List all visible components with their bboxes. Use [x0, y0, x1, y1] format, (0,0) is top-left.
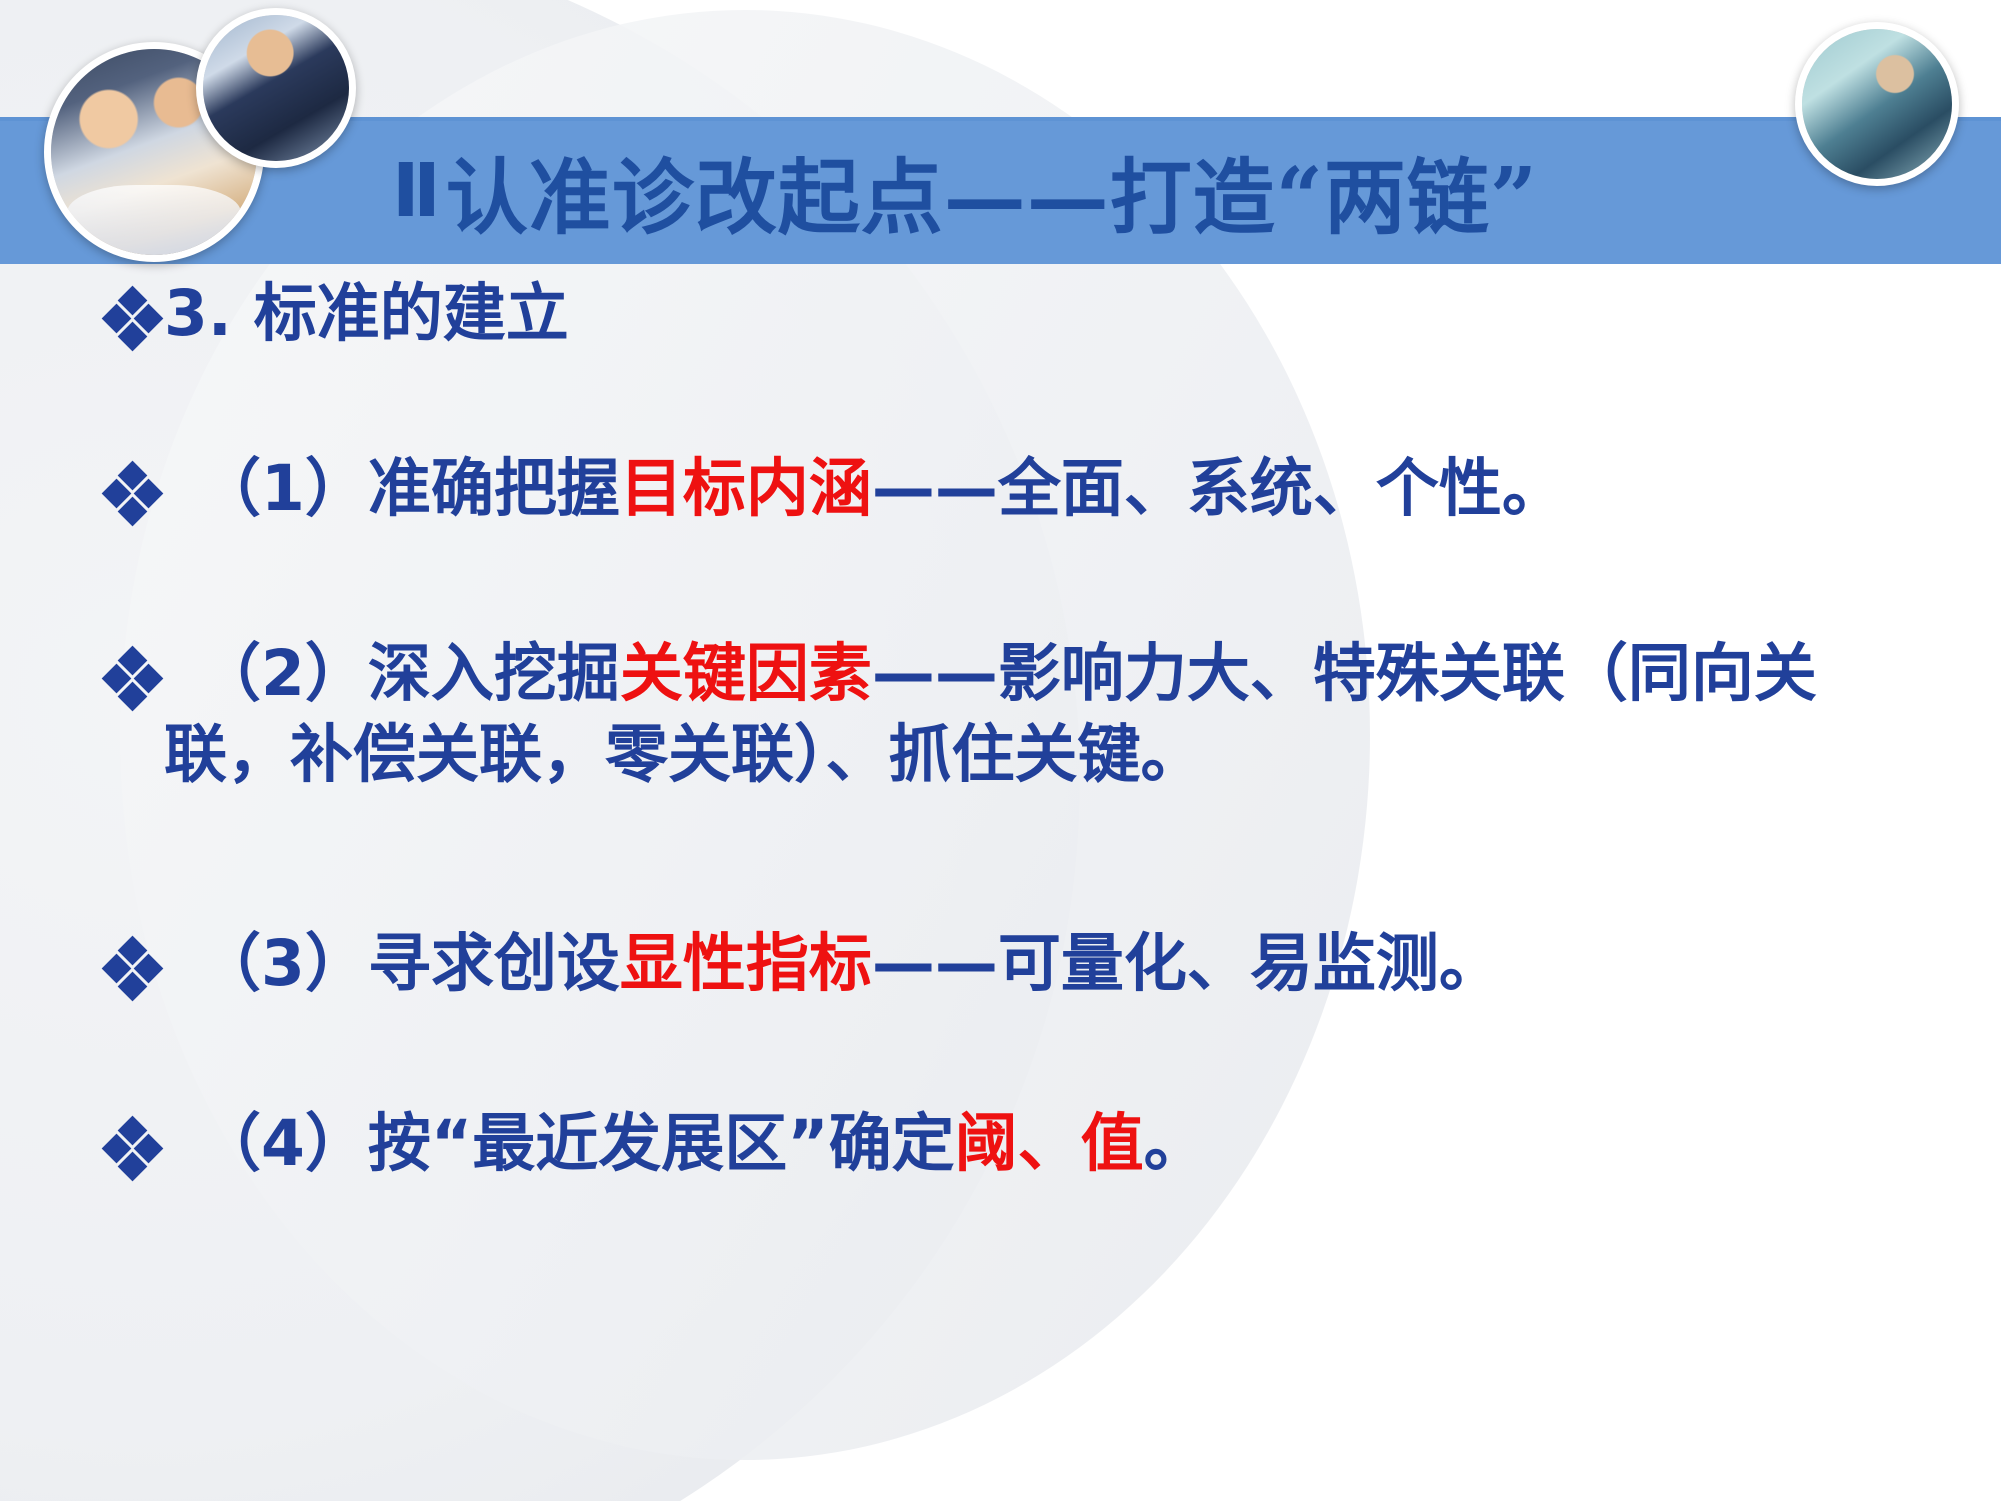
- diamond-bullet-icon: [104, 1118, 164, 1178]
- slide-title-text: 认准诊改起点——打造“两链”: [446, 131, 1538, 250]
- bullet-item-4: （4）按“最近发展区”确定阈、值。: [104, 1104, 1207, 1185]
- photo-circle-handshake-top-image: [203, 15, 349, 161]
- bullet-item-3-text: （3）寻求创设显性指标——可量化、易监测。: [164, 924, 1502, 1005]
- bullet-item-2: （2）深入挖掘关键因素——影响力大、特殊关联（同向关联，补偿关联，零关联）、抓住…: [104, 634, 1904, 795]
- photo-circle-handshake-top: [196, 8, 356, 168]
- diamond-bullet-icon: [104, 648, 164, 708]
- diamond-bullet-icon: [104, 463, 164, 523]
- bullet-item-4-text: （4）按“最近发展区”确定阈、值。: [164, 1104, 1207, 1185]
- segment-2: ——全面、系统、个性。: [872, 452, 1565, 525]
- segment-0: （4）按“最近发展区”确定: [198, 1107, 955, 1180]
- photo-circle-presenter-right-image: [1802, 29, 1952, 179]
- bullet-item-1: （1）准确把握目标内涵——全面、系统、个性。: [104, 449, 1565, 530]
- slide-title-numeral: Ⅱ: [392, 148, 442, 234]
- bullet-heading-text: 3. 标准的建立: [164, 274, 569, 355]
- bullet-item-1-text: （1）准确把握目标内涵——全面、系统、个性。: [164, 449, 1565, 530]
- segment-0: （3）寻求创设: [198, 927, 620, 1000]
- segment-1-highlight: 阈、值: [955, 1107, 1144, 1180]
- segment-2: 。: [1144, 1107, 1207, 1180]
- presentation-slide: Ⅱ认准诊改起点——打造“两链” 3. 标准的建立 （1）准确把握目标内涵——全面…: [0, 0, 2001, 1501]
- segment-1-highlight: 显性指标: [620, 927, 872, 1000]
- photo-circle-presenter-right: [1795, 22, 1959, 186]
- bullet-heading: 3. 标准的建立: [104, 274, 569, 355]
- segment-0: 3. 标准的建立: [164, 277, 569, 350]
- diamond-bullet-icon: [104, 938, 164, 998]
- segment-1-highlight: 目标内涵: [620, 452, 872, 525]
- segment-0: （2）深入挖掘: [198, 637, 620, 710]
- segment-1-highlight: 关键因素: [620, 637, 872, 710]
- segment-2: ——可量化、易监测。: [872, 927, 1502, 1000]
- bullet-item-2-text: （2）深入挖掘关键因素——影响力大、特殊关联（同向关联，补偿关联，零关联）、抓住…: [164, 634, 1894, 795]
- segment-0: （1）准确把握: [198, 452, 620, 525]
- diamond-bullet-icon: [104, 288, 164, 348]
- bullet-item-3: （3）寻求创设显性指标——可量化、易监测。: [104, 924, 1502, 1005]
